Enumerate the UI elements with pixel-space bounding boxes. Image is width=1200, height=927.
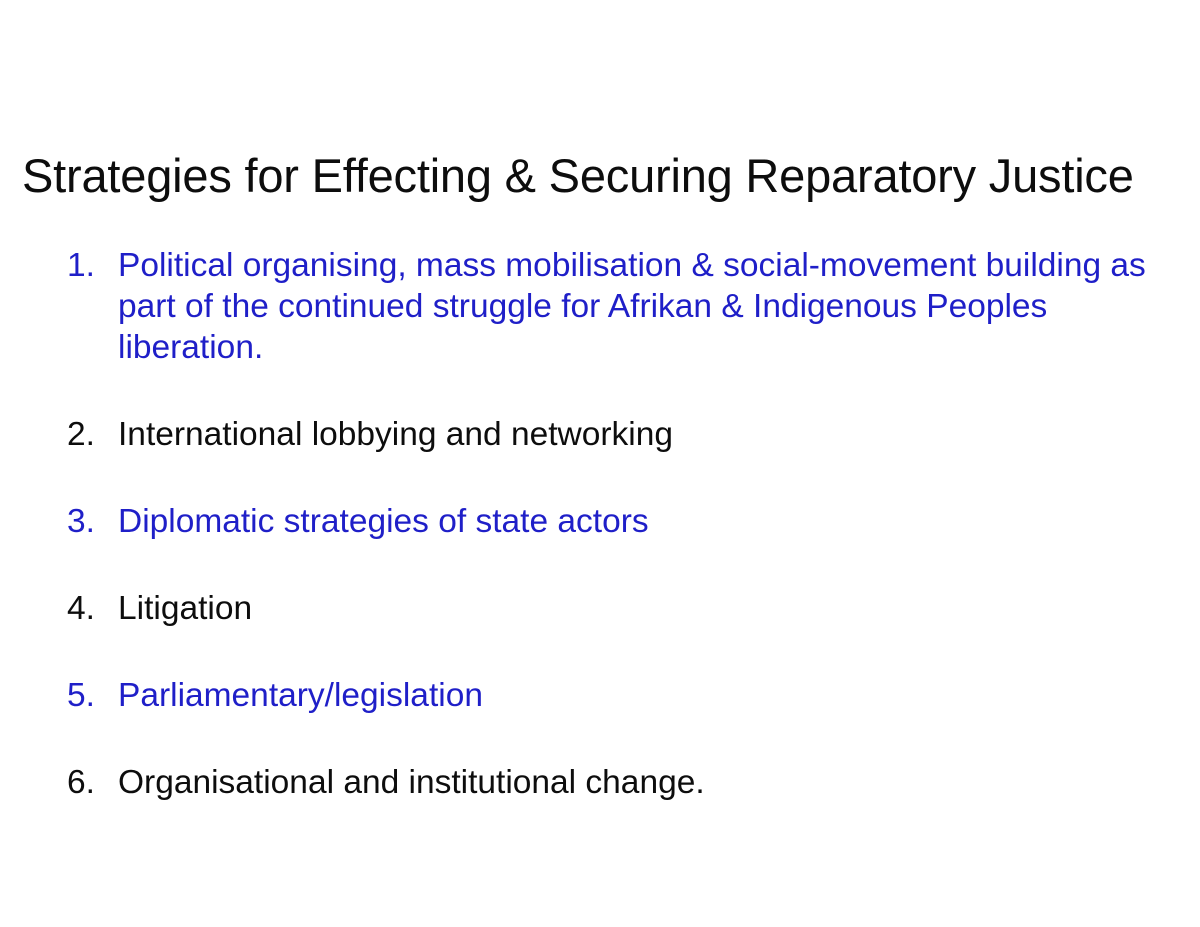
list-item-label: Political organising, mass mobilisation … bbox=[118, 245, 1190, 368]
list-item-marker: 3. bbox=[67, 501, 111, 542]
list-item-label: Organisational and institutional change. bbox=[118, 762, 1145, 803]
list-item: 2. International lobbying and networking bbox=[60, 414, 1145, 455]
list-item-label: Parliamentary/legislation bbox=[118, 675, 1145, 716]
list-item: 5. Parliamentary/legislation bbox=[60, 675, 1145, 716]
page-title: Strategies for Effecting & Securing Repa… bbox=[22, 148, 1182, 204]
list-item: 6. Organisational and institutional chan… bbox=[60, 762, 1145, 803]
list-item-label: International lobbying and networking bbox=[118, 414, 1145, 455]
list-item: 4. Litigation bbox=[60, 588, 1145, 629]
list-item-marker: 5. bbox=[67, 675, 111, 716]
list-item-marker: 1. bbox=[67, 245, 111, 286]
list-item-marker: 4. bbox=[67, 588, 111, 629]
slide-canvas: Strategies for Effecting & Securing Repa… bbox=[0, 0, 1200, 927]
list-item: 3. Diplomatic strategies of state actors bbox=[60, 501, 1145, 542]
strategies-list: 1. Political organising, mass mobilisati… bbox=[60, 245, 1145, 803]
list-item-label: Litigation bbox=[118, 588, 1145, 629]
list-item-label: Diplomatic strategies of state actors bbox=[118, 501, 1145, 542]
list-item: 1. Political organising, mass mobilisati… bbox=[60, 245, 1190, 368]
list-item-marker: 6. bbox=[67, 762, 111, 803]
list-item-marker: 2. bbox=[67, 414, 111, 455]
